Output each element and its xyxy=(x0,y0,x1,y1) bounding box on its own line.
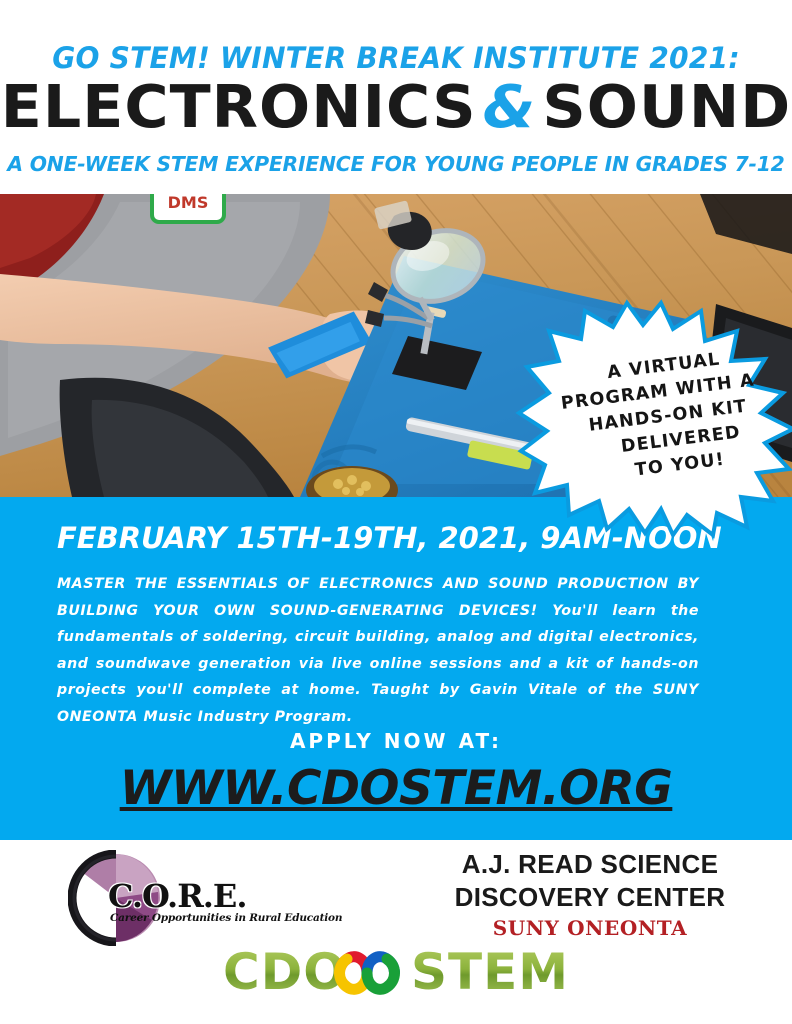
core-tagline: Career Opportunities in Rural Education xyxy=(110,912,342,924)
program-subtitle: A ONE-WEEK STEM EXPERIENCE FOR YOUNG PEO… xyxy=(4,152,788,176)
ajread-line-2: DISCOVERY CENTER xyxy=(420,881,760,914)
infinity-icon xyxy=(340,957,395,990)
core-logo: C.O.R.E. Career Opportunities in Rural E… xyxy=(68,850,298,946)
poster-header: GO STEM! WINTER BREAK INSTITUTE 2021: EL… xyxy=(0,0,792,194)
details-band: FEBRUARY 15TH-19TH, 2021, 9AM-NOON MASTE… xyxy=(0,497,792,840)
cdostem-right-text: STEM xyxy=(411,945,569,1001)
cdostem-left-text: CDO xyxy=(223,945,347,1001)
page-title: ELECTRONICS&SOUND xyxy=(0,76,792,138)
svg-text:DMS: DMS xyxy=(168,194,209,212)
program-description: MASTER THE ESSENTIALS OF ELECTRONICS AND… xyxy=(57,571,699,730)
suny-oneonta-label: SUNY ONEONTA xyxy=(420,914,760,942)
title-ampersand: & xyxy=(477,72,543,141)
hero-photo: DMS xyxy=(0,194,792,497)
hero-photo-illustration: DMS xyxy=(0,194,792,497)
title-part-sound: SOUND xyxy=(542,72,791,141)
ajread-line-1: A.J. READ SCIENCE xyxy=(420,848,760,881)
cdostem-logo: CDO STEM xyxy=(0,944,792,1002)
cdostem-logo-shape: CDO STEM xyxy=(223,945,569,1001)
program-eyebrow: GO STEM! WINTER BREAK INSTITUTE 2021: xyxy=(12,41,780,75)
title-part-electronics: ELECTRONICS xyxy=(1,72,477,141)
core-wordmark: C.O.R.E. xyxy=(108,877,246,915)
apply-url-link[interactable]: WWW.CDOSTEM.ORG xyxy=(0,761,792,816)
apply-label: APPLY NOW AT: xyxy=(0,729,792,753)
ajread-block: A.J. READ SCIENCE DISCOVERY CENTER SUNY … xyxy=(420,848,760,942)
poster-footer: C.O.R.E. Career Opportunities in Rural E… xyxy=(0,840,792,1024)
program-dates: FEBRUARY 15TH-19TH, 2021, 9AM-NOON xyxy=(57,521,722,555)
flyer-poster: GO STEM! WINTER BREAK INSTITUTE 2021: EL… xyxy=(0,0,792,1024)
